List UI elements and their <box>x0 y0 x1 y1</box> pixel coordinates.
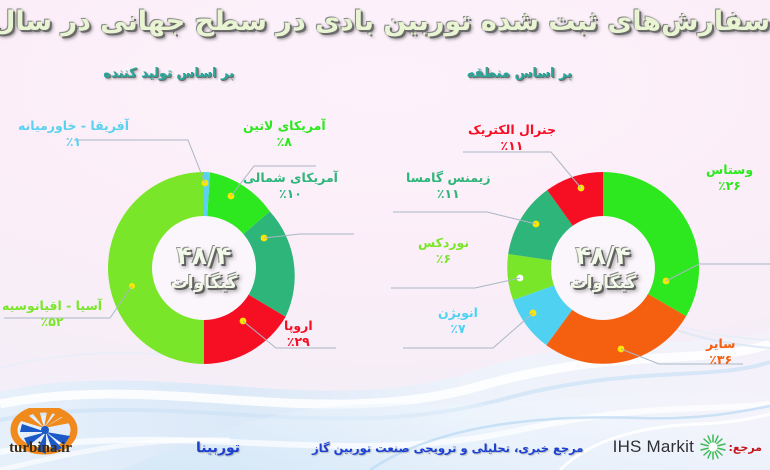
ihs-markit-burst-icon <box>700 434 726 460</box>
source-logo[interactable]: IHS Markit <box>613 434 726 460</box>
site-url: turbina.ir <box>9 440 72 456</box>
label-europe[interactable]: اروپا ٪۲۹ <box>284 318 313 349</box>
label-percent: ٪۷ <box>438 321 478 337</box>
center-unit: گیگاوات <box>144 273 264 293</box>
center-unit: گیگاوات <box>543 273 663 293</box>
label-percent: ٪۱۰ <box>243 186 338 202</box>
label-percent: ٪۱ <box>18 134 129 150</box>
label-name: اروپا <box>284 318 313 334</box>
brand-name: توربینا <box>196 440 240 456</box>
label-percent: ٪۱۱ <box>406 186 491 202</box>
label-name: انویژن <box>438 305 478 321</box>
label-percent: ٪۱۱ <box>468 138 556 154</box>
ihs-markit-wordmark: IHS Markit <box>613 437 694 457</box>
label-percent: ٪۶ <box>418 251 469 267</box>
label-africa-middle-east[interactable]: آفریقا - خاورمیانه ٪۱ <box>18 118 129 149</box>
page-title: سفارش‌های ثبت شده توربین بادی در سطح جها… <box>0 6 770 37</box>
header: سفارش‌های ثبت شده توربین بادی در سطح جها… <box>0 6 770 37</box>
label-name: آمریکای لاتین <box>243 118 326 134</box>
label-name: آفریقا - خاورمیانه <box>18 118 129 134</box>
label-percent: ٪۵۲ <box>2 314 102 330</box>
label-percent: ٪۲۹ <box>284 334 313 350</box>
label-name: نوردکس <box>418 235 469 251</box>
label-general-electric[interactable]: جنرال الکتریک ٪۱۱ <box>468 122 556 153</box>
label-percent: ٪۸ <box>243 134 326 150</box>
label-envision[interactable]: انویژن ٪۷ <box>438 305 478 336</box>
label-name: زیمنس گامسا <box>406 170 491 186</box>
label-name: جنرال الکتریک <box>468 122 556 138</box>
label-siemens-gamesa[interactable]: زیمنس گامسا ٪۱۱ <box>406 170 491 201</box>
center-value: ۴۸/۴ <box>543 243 663 269</box>
label-asia-oceania[interactable]: آسیا - اقیانوسیه ٪۵۲ <box>2 298 102 329</box>
label-name: آسیا - اقیانوسیه <box>2 298 102 314</box>
label-percent: ٪۳۶ <box>706 352 735 368</box>
center-value: ۴۸/۴ <box>144 243 264 269</box>
label-other[interactable]: سایر ٪۳۶ <box>706 336 735 367</box>
subtitle-by-manufacturer: بر اساس تولید کننده <box>103 66 234 81</box>
footer: turbina.ir توربینا مرجع خبری، تحلیلی و ت… <box>0 408 770 470</box>
label-name: آمریکای شمالی <box>243 170 338 186</box>
label-latin-america[interactable]: آمریکای لاتین ٪۸ <box>243 118 326 149</box>
turbina-logo[interactable]: turbina.ir <box>6 408 128 464</box>
footer-tagline: مرجع خبری، تحلیلی و ترویجی صنعت توربین گ… <box>312 441 583 455</box>
label-nordex[interactable]: نوردکس ٪۶ <box>418 235 469 266</box>
label-name: وستاس <box>706 162 753 178</box>
label-percent: ٪۲۶ <box>706 178 753 194</box>
label-north-america[interactable]: آمریکای شمالی ٪۱۰ <box>243 170 338 201</box>
label-vestas[interactable]: وستاس ٪۲۶ <box>706 162 753 193</box>
label-name: سایر <box>706 336 735 352</box>
chart-center-label-region: ۴۸/۴ گیگاوات <box>144 243 264 293</box>
subtitle-by-region: بر اساس منطقه <box>467 66 572 81</box>
donut-chart-by-manufacturer: ۴۸/۴ گیگاوات <box>503 168 703 368</box>
chart-center-label-manufacturer: ۴۸/۴ گیگاوات <box>543 243 663 293</box>
source-label: مرجع: <box>729 441 763 454</box>
